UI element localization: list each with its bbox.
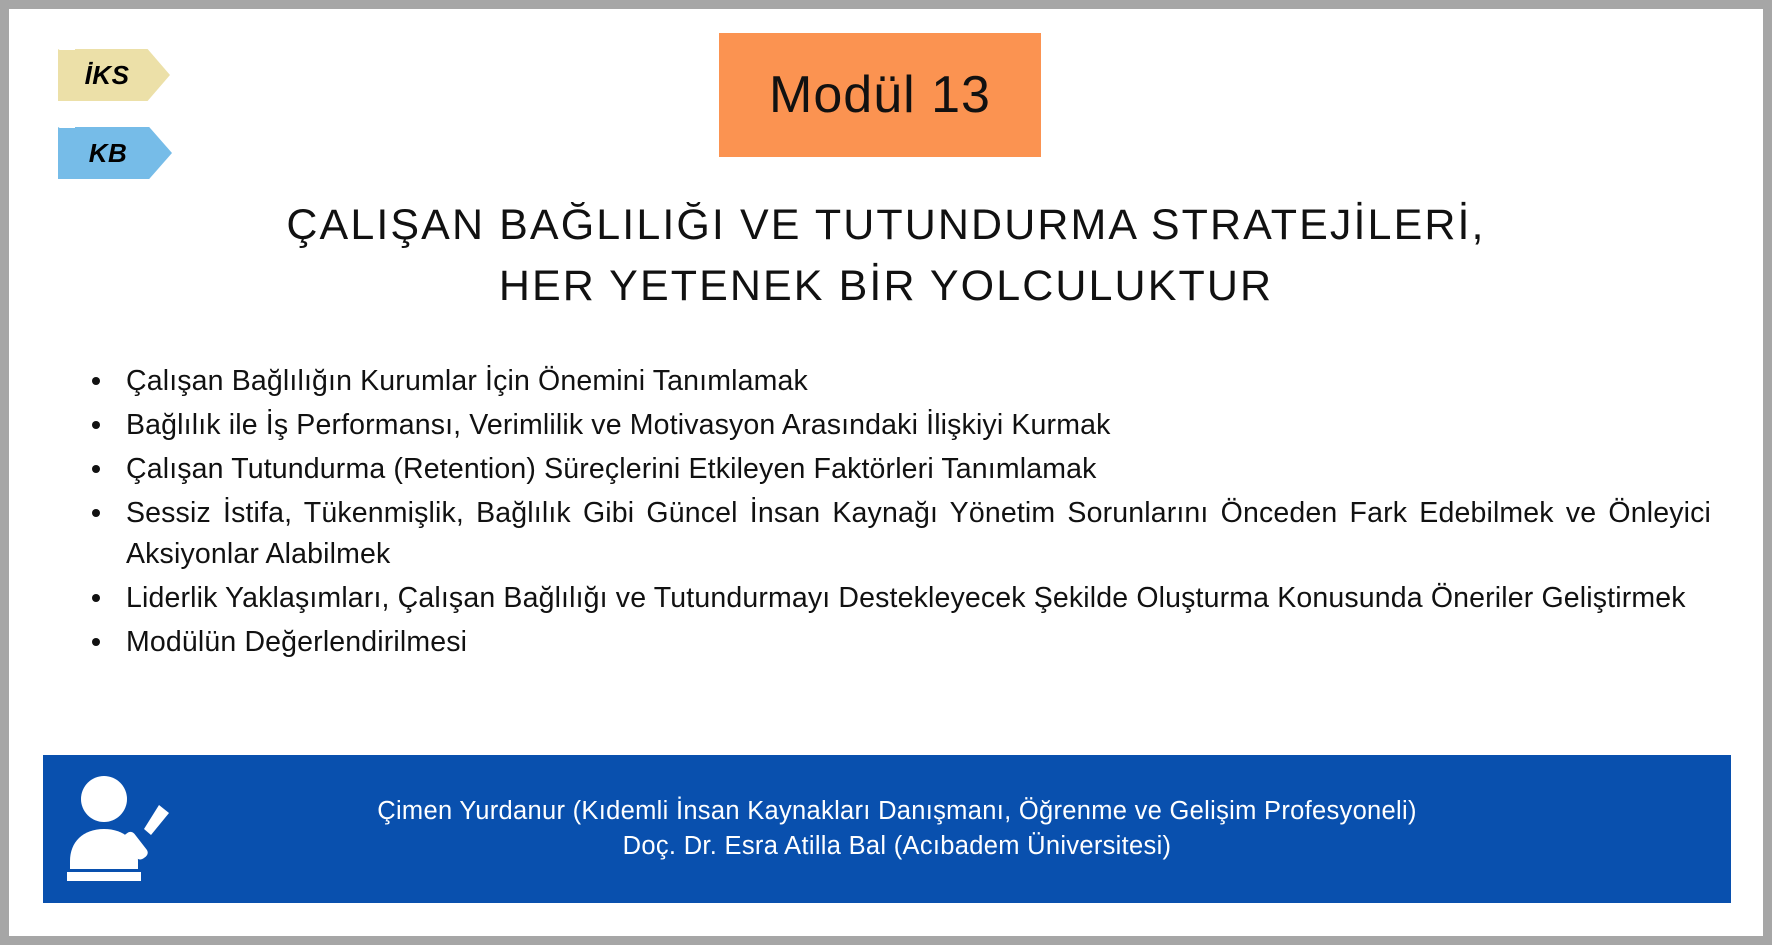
ribbon-tag-kb: KB: [58, 127, 172, 179]
bullet-dot-icon: [92, 594, 100, 602]
list-item-label: Çalışan Bağlılığın Kurumlar İçin Önemini…: [126, 365, 808, 397]
list-item-label: Liderlik Yaklaşımları, Çalışan Bağlılığı…: [126, 582, 1686, 614]
bullet-dot-icon: [92, 377, 100, 385]
presenter-names: Çimen Yurdanur (Kıdemli İnsan Kaynakları…: [193, 794, 1731, 864]
ribbon-shape: KB: [58, 127, 172, 179]
list-item-label: Bağlılık ile İş Performansı, Verimlilik …: [126, 409, 1110, 441]
list-item: Sessiz İstifa, Tükenmişlik, Bağlılık Gib…: [69, 493, 1711, 575]
list-item-label: Sessiz İstifa, Tükenmişlik, Bağlılık Gib…: [126, 497, 1711, 570]
module-banner: Modül 13: [719, 33, 1041, 157]
objectives-list: Çalışan Bağlılığın Kurumlar İçin Önemini…: [69, 361, 1711, 666]
bullet-dot-icon: [92, 421, 100, 429]
list-item: Modülün Değerlendirilmesi: [69, 622, 1711, 663]
list-item-label: Çalışan Tutundurma (Retention) Süreçleri…: [126, 453, 1096, 485]
list-item: Çalışan Bağlılığın Kurumlar İçin Önemini…: [69, 361, 1711, 402]
presenter-line-2: Doç. Dr. Esra Atilla Bal (Acıbadem Ünive…: [193, 829, 1601, 864]
presenter-line-1: Çimen Yurdanur (Kıdemli İnsan Kaynakları…: [193, 794, 1601, 829]
bullet-dot-icon: [92, 465, 100, 473]
list-item: Bağlılık ile İş Performansı, Verimlilik …: [69, 405, 1711, 446]
module-banner-label: Modül 13: [769, 69, 991, 121]
list-item-label: Modülün Değerlendirilmesi: [126, 626, 467, 658]
presenter-footer: Çimen Yurdanur (Kıdemli İnsan Kaynakları…: [43, 755, 1731, 903]
ribbon-fold-icon: [58, 40, 75, 50]
page-title-line-2: HER YETENEK BİR YOLCULUKTUR: [9, 256, 1763, 317]
list-item: Çalışan Tutundurma (Retention) Süreçleri…: [69, 449, 1711, 490]
list-item: Liderlik Yaklaşımları, Çalışan Bağlılığı…: [69, 578, 1711, 619]
ribbon-tag-kb-label: KB: [89, 140, 142, 166]
presenter-teacher-icon: [43, 773, 193, 885]
slide-canvas: İKS KB Modül 13 ÇALIŞAN BAĞLILIĞI VE TUT…: [0, 0, 1772, 945]
page-title-line-1: ÇALIŞAN BAĞLILIĞI VE TUTUNDURMA STRATEJİ…: [9, 195, 1763, 256]
ribbon-shape: İKS: [58, 49, 170, 101]
ribbon-fold-icon: [58, 118, 75, 128]
page-title: ÇALIŞAN BAĞLILIĞI VE TUTUNDURMA STRATEJİ…: [9, 195, 1763, 317]
bullet-dot-icon: [92, 638, 100, 646]
bullet-dot-icon: [92, 509, 100, 517]
ribbon-tag-iks: İKS: [58, 49, 170, 101]
ribbon-tag-iks-label: İKS: [85, 62, 144, 88]
